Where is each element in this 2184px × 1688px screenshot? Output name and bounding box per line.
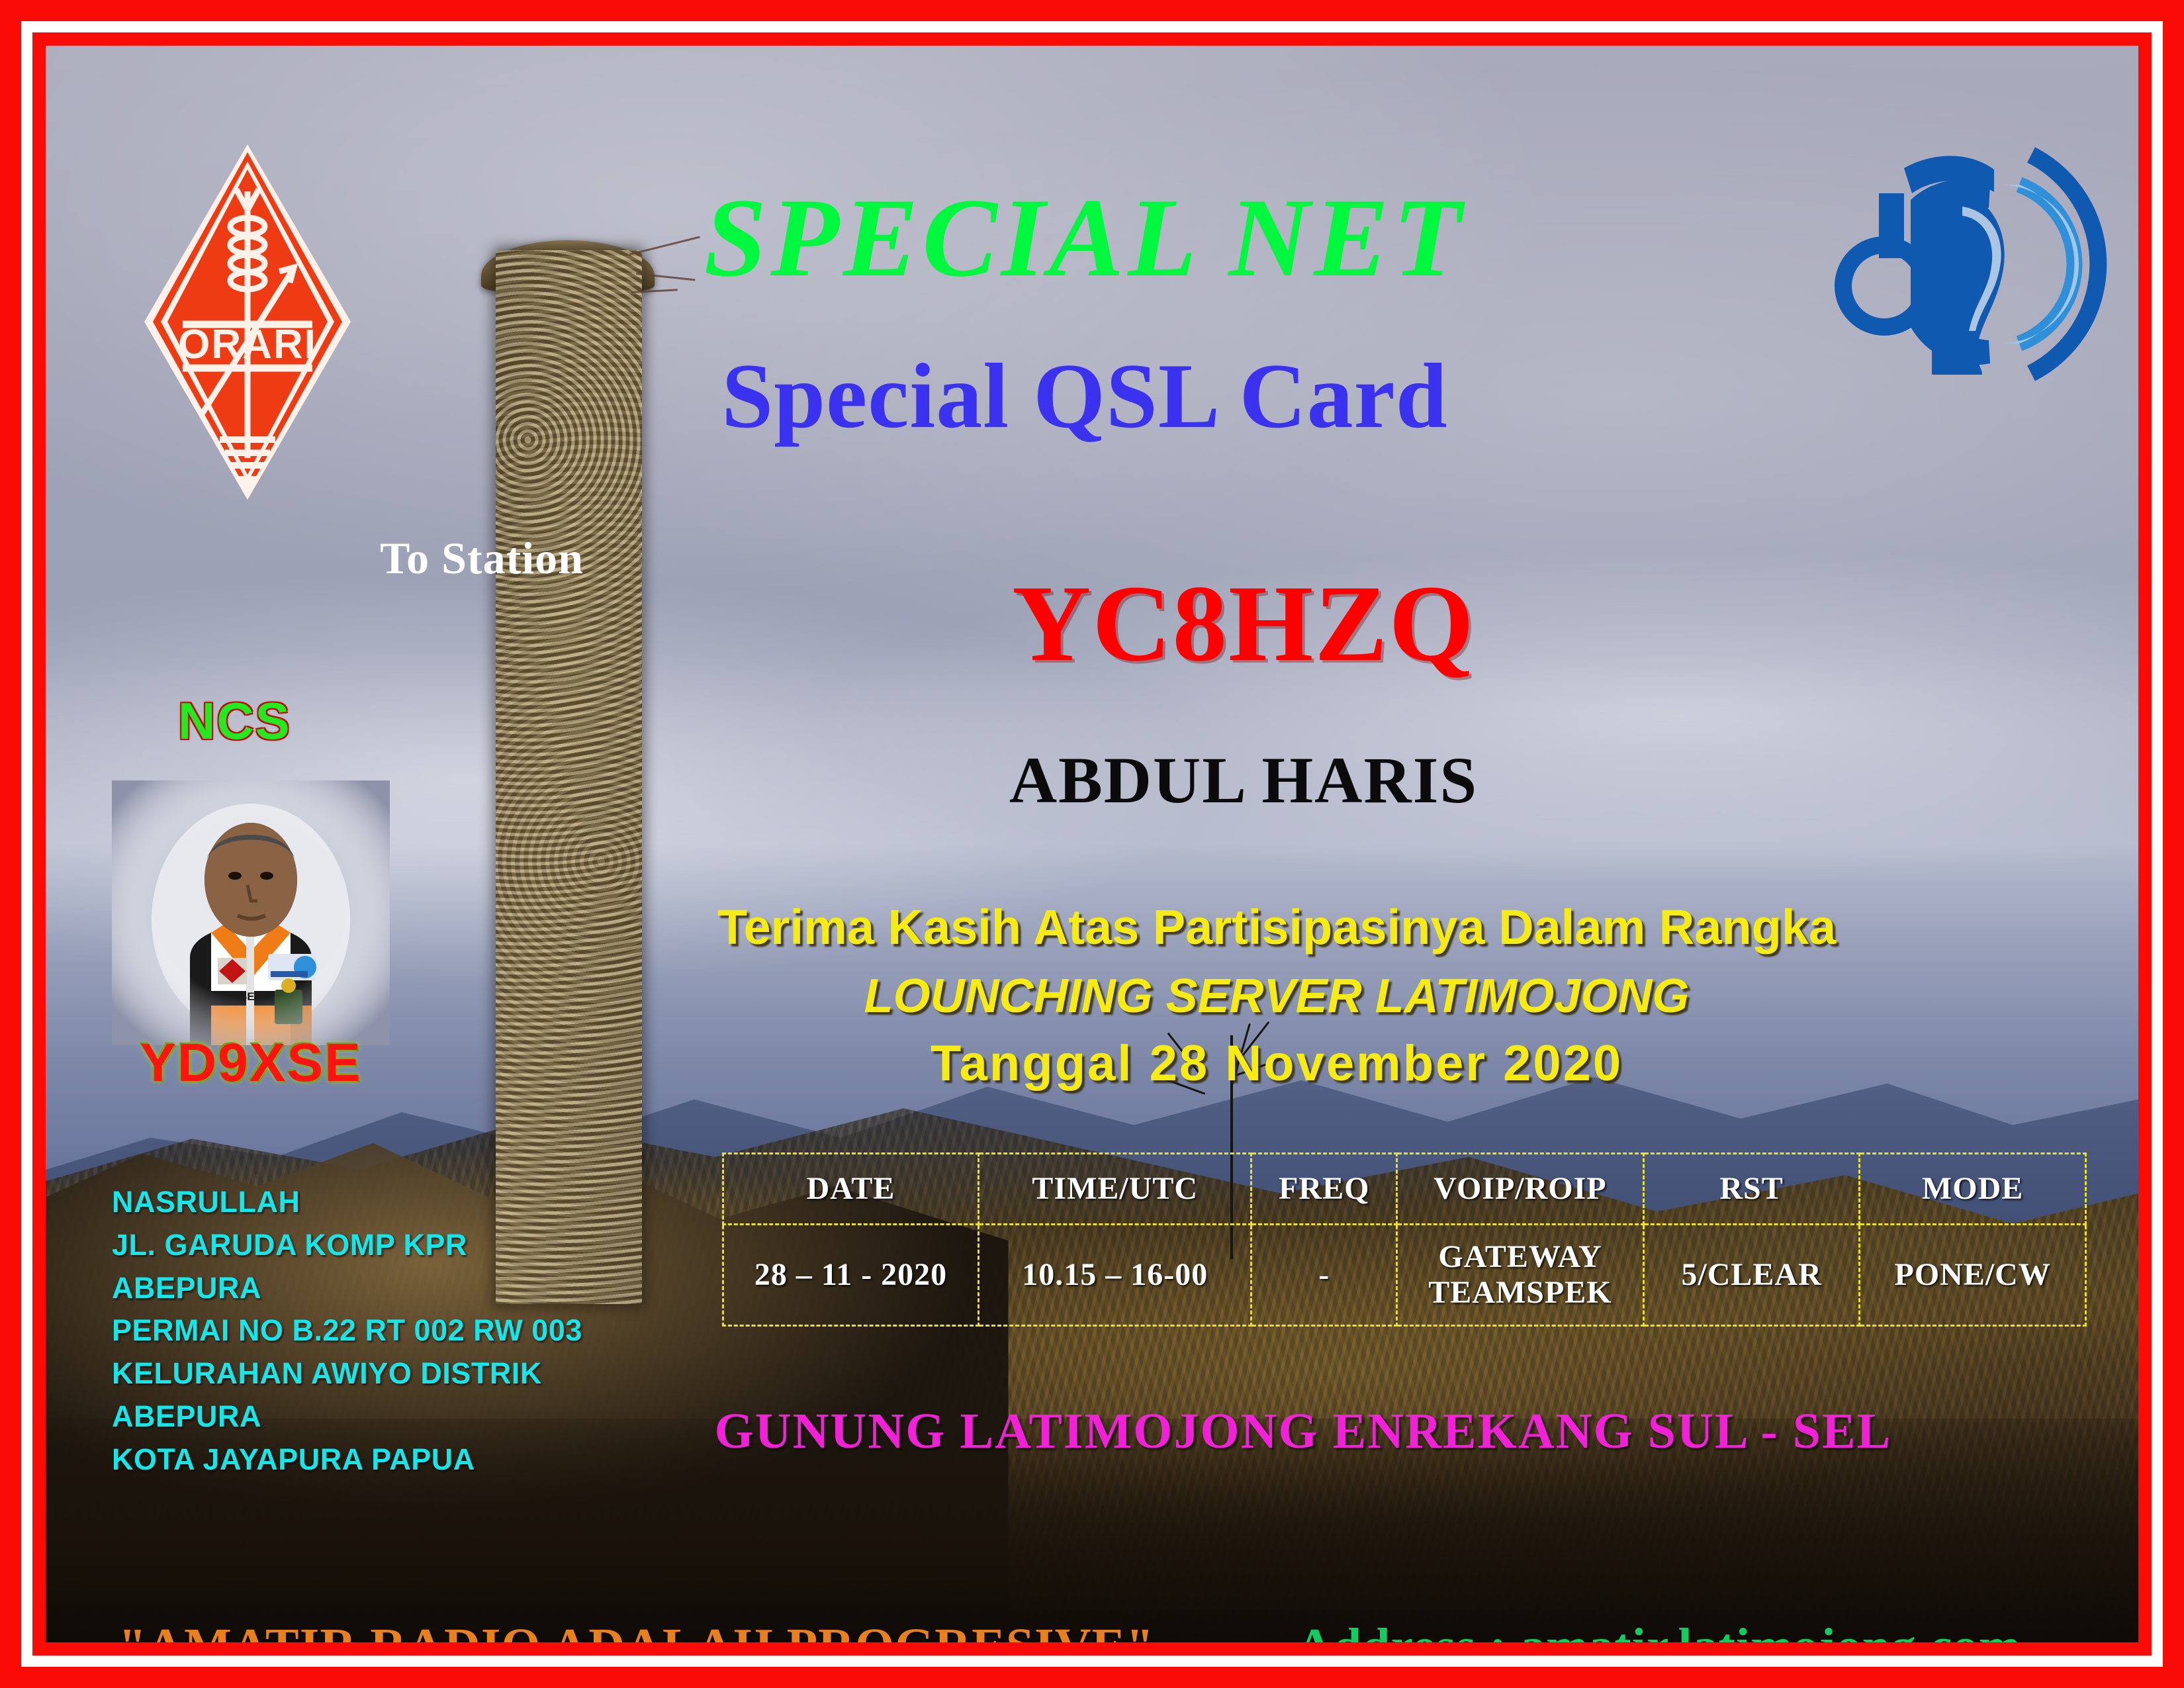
page-subtitle-special-qsl-card: Special QSL Card: [469, 350, 1700, 443]
address-line: KELURAHAN AWIYO DISTRIK: [112, 1352, 582, 1395]
cell-freq: -: [1251, 1225, 1397, 1326]
address-line: JL. GARUDA KOMP KPR: [112, 1224, 582, 1267]
to-station-label: To Station: [380, 532, 584, 585]
orari-logo: ORARI: [142, 142, 353, 502]
event-line: LOUNCHING SERVER LATIMOJONG: [707, 972, 1846, 1020]
motto-text: "AMATIR RADIO ADALAH PROGRESIVE": [118, 1618, 1154, 1642]
card-background-photo: ORARI: [46, 46, 2138, 1642]
address-line: PERMAI NO B.22 RT 002 RW 003: [112, 1309, 582, 1352]
table-row: 28 – 11 - 2020 10.15 – 16-00 - GATEWAY T…: [723, 1225, 2086, 1326]
net-logo: [1833, 128, 2137, 400]
recipient-callsign: YC8HZQ: [807, 569, 1680, 678]
table-header-rst: RST: [1643, 1154, 1860, 1225]
table-header-time-utc: TIME/UTC: [979, 1154, 1251, 1225]
table-header-freq: FREQ: [1251, 1154, 1397, 1225]
event-date-line: Tanggal 28 November 2020: [707, 1039, 1846, 1089]
card-white-frame-gap: ORARI: [21, 21, 2163, 1667]
table-header-row: DATE TIME/UTC FREQ VOIP/ROIP RST MODE: [723, 1154, 2086, 1225]
web-address-text: Address : amatir.latimojong.com: [1297, 1618, 2021, 1642]
cell-rst: 5/CLEAR: [1643, 1225, 1860, 1326]
address-line: NASRULLAH: [112, 1181, 582, 1224]
ncs-callsign: YD9XSE: [112, 1032, 390, 1094]
card-inner-red-frame: ORARI: [32, 32, 2152, 1656]
address-line: ABEPURA: [112, 1395, 582, 1438]
cell-date: 28 – 11 - 2020: [723, 1225, 979, 1326]
orari-logo-text: ORARI: [178, 322, 317, 367]
mailing-address-block: NASRULLAH JL. GARUDA KOMP KPR ABEPURA PE…: [112, 1181, 582, 1481]
thanks-line: Terima Kasih Atas Partisipasinya Dalam R…: [707, 903, 1846, 952]
cell-mode: PONE/CW: [1860, 1225, 2086, 1326]
page-title-special-net: SPECIAL NET: [469, 181, 1700, 294]
ncs-label: NCS: [178, 691, 291, 751]
recipient-operator-name: ABDUL HARIS: [807, 747, 1680, 814]
table-header-date: DATE: [723, 1154, 979, 1225]
qsl-card: ORARI: [0, 0, 2184, 1688]
ncs-operator-photo: YD9XSE: [112, 780, 390, 1045]
table-header-mode: MODE: [1860, 1154, 2086, 1225]
table-header-voip-roip: VOIP/ROIP: [1397, 1154, 1644, 1225]
qso-details-table: DATE TIME/UTC FREQ VOIP/ROIP RST MODE 28…: [722, 1152, 2087, 1327]
cell-time-utc: 10.15 – 16-00: [979, 1225, 1251, 1326]
cell-voip-roip: GATEWAY TEAMSPEK: [1397, 1225, 1644, 1326]
address-line: KOTA JAYAPURA PAPUA: [112, 1438, 582, 1481]
address-line: ABEPURA: [112, 1267, 582, 1310]
venue-line: GUNUNG LATIMOJONG ENREKANG SUL - SEL: [641, 1403, 1965, 1460]
